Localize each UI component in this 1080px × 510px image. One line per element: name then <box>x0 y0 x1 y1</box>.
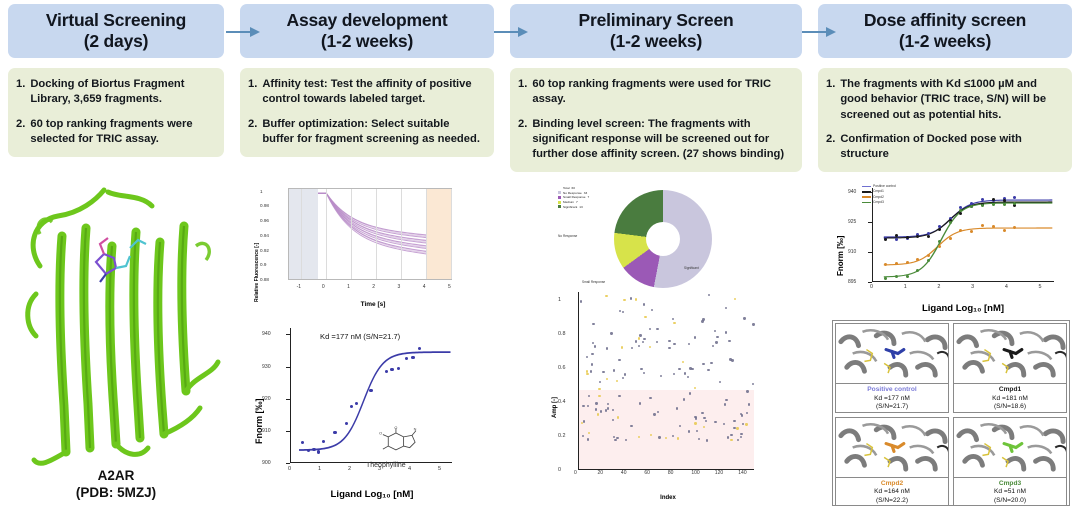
scatter-point <box>695 417 697 419</box>
scatter-point <box>714 330 716 332</box>
scatter-x-tick: 40 <box>621 470 627 476</box>
scatter-point <box>708 294 710 296</box>
scatter-point <box>639 334 641 336</box>
docked-pose-caption: Cmpd3 Kd =51 nM (S/N=20.0) <box>954 478 1066 506</box>
scatter-point <box>733 427 735 429</box>
legend-swatch <box>558 201 561 204</box>
compound-kd: Kd =181 nM <box>954 395 1066 404</box>
flow-arrow-1 <box>226 27 260 37</box>
compound-kd: Kd =164 nM <box>836 488 948 497</box>
affinity-data-point <box>906 236 909 239</box>
list-number: 2. <box>248 117 257 147</box>
dose-y-tick: 900 <box>262 460 271 466</box>
affinity-x-tick: 5 <box>1039 284 1042 290</box>
compound-kd: Kd =51 nM <box>954 488 1066 497</box>
stage-duration: (2 days) <box>12 31 220 52</box>
scatter-point <box>743 317 745 319</box>
hot-region <box>427 189 451 279</box>
data-point <box>411 356 414 359</box>
tric-x-axis-label: Time [s] <box>268 301 478 308</box>
scatter-point <box>602 371 604 373</box>
stage-description-virtual-screening: 1. Docking of Biortus Fragment Library, … <box>8 68 224 156</box>
docked-pose-gallery: Positive control Kd =177 nM (S/N=21.7) <box>832 320 1070 506</box>
scatter-point <box>630 425 632 427</box>
legend-line-swatch <box>862 202 871 204</box>
positive-control-dose-response-chart: Kd =177 nM (S/N=21.7) 900 910 920 930 94… <box>248 318 460 503</box>
affinity-data-point <box>938 240 941 243</box>
flow-arrow-3 <box>802 27 836 37</box>
scatter-point <box>610 332 612 334</box>
scatter-point <box>672 318 674 320</box>
scatter-point <box>643 303 645 305</box>
stage-description-assay-development: 1. Affinity test: Test the affinity of p… <box>240 68 494 156</box>
tric-x-tick: 3 <box>398 284 401 290</box>
scatter-point <box>617 416 619 418</box>
scatter-point <box>694 387 696 389</box>
scatter-point <box>606 347 608 349</box>
affinity-data-point <box>895 238 898 241</box>
legend-line-swatch <box>862 196 871 198</box>
scatter-point <box>649 397 651 399</box>
protein-name: A2AR <box>0 467 232 485</box>
affinity-y-tick: 895 <box>848 279 856 285</box>
scatter-y-tick: 0.4 <box>558 399 566 405</box>
docked-pose-cell: Positive control Kd =177 nM (S/N=21.7) <box>835 323 949 413</box>
scatter-x-tick: 60 <box>644 470 650 476</box>
affinity-x-tick: 4 <box>1005 284 1008 290</box>
affinity-plot-frame <box>872 188 1054 282</box>
scatter-point <box>734 298 736 300</box>
scatter-point <box>673 343 675 345</box>
stage-description-dose-affinity-screen: 1. The fragments with Kd ≤1000 µM and go… <box>818 68 1072 172</box>
scatter-point <box>740 433 742 435</box>
scatter-x-tick: 20 <box>597 470 603 476</box>
list-item: 1. 60 top ranking fragments were used fo… <box>518 77 792 107</box>
data-point <box>307 449 310 452</box>
kd-annotation: Kd =177 nM (S/N=21.7) <box>320 332 400 341</box>
data-point <box>317 450 320 453</box>
affinity-curves <box>872 188 1054 282</box>
dose-x-tick: 2 <box>348 466 351 472</box>
scatter-point <box>660 375 662 377</box>
affinity-x-tick: 0 <box>870 284 873 290</box>
affinity-data-point <box>906 275 909 278</box>
list-item: 2. Binding level screen: The fragments w… <box>518 117 792 162</box>
stage-column-virtual-screening: Virtual Screening (2 days) 1. Docking of… <box>0 0 232 510</box>
legend-value: 7 <box>588 195 590 200</box>
scatter-point <box>614 439 616 441</box>
scatter-point <box>716 336 718 338</box>
scatter-point <box>592 323 594 325</box>
scatter-point <box>638 337 640 339</box>
scatter-point <box>691 368 693 370</box>
scatter-point <box>688 430 690 432</box>
dose-x-tick: 5 <box>438 466 441 472</box>
scatter-point <box>684 372 686 374</box>
compound-name: Cmpd2 <box>836 480 948 489</box>
tric-y-tick: 0.9 <box>260 262 266 267</box>
scatter-point <box>616 380 618 382</box>
scatter-point <box>623 299 625 301</box>
tric-y-tick: 0.92 <box>260 248 269 253</box>
scatter-x-tick: 100 <box>691 470 699 476</box>
list-text: Binding level screen: The fragments with… <box>532 117 792 162</box>
scatter-point <box>730 439 732 441</box>
list-text: Buffer optimization: Select suitable buf… <box>262 117 484 147</box>
scatter-point <box>586 373 588 375</box>
scatter-point <box>658 436 660 438</box>
scatter-point <box>727 436 729 438</box>
scatter-point <box>702 363 704 365</box>
scatter-point <box>665 437 667 439</box>
scatter-point <box>599 381 601 383</box>
list-item: 1. The fragments with Kd ≤1000 µM and go… <box>826 77 1062 122</box>
dose-y-axis-label: Fnorm [‰] <box>254 399 264 445</box>
compound-sn: (S/N=22.2) <box>836 497 948 506</box>
scatter-point <box>635 298 637 300</box>
scatter-point <box>710 362 712 364</box>
stage-header-dose-affinity-screen: Dose affinity screen (1-2 weeks) <box>818 4 1072 58</box>
affinity-x-tick: 1 <box>904 284 907 290</box>
scatter-point <box>706 439 708 441</box>
affinity-x-tick: 3 <box>971 284 974 290</box>
list-number: 1. <box>518 77 527 107</box>
tric-y-tick: 0.98 <box>260 203 269 208</box>
list-item: 2. Buffer optimization: Select suitable … <box>248 117 484 147</box>
tric-y-tick: 1 <box>260 189 263 194</box>
scatter-point <box>725 307 727 309</box>
affinity-data-point <box>884 277 887 280</box>
scatter-point <box>689 392 691 394</box>
scatter-point <box>643 338 645 340</box>
tric-x-tick: 2 <box>372 284 375 290</box>
docked-pose-image <box>954 418 1066 478</box>
list-number: 1. <box>248 77 257 107</box>
compound-kd: Kd =177 nM <box>836 395 948 404</box>
scatter-point <box>694 336 696 338</box>
docked-pose-cell: Cmpd2 Kd =164 nM (S/N=22.2) <box>835 417 949 507</box>
tric-trace-chart: 10.980.960.940.920.90.88 -1012345 Relati… <box>248 182 458 312</box>
list-number: 2. <box>16 117 25 147</box>
affinity-data-point <box>927 259 930 262</box>
affinity-data-point <box>927 254 930 257</box>
data-point <box>345 422 348 425</box>
scatter-point <box>622 311 624 313</box>
affinity-x-axis-label: Ligand Log₁₀ [nM] <box>848 303 1078 314</box>
scatter-x-tick: 120 <box>715 470 723 476</box>
scatter-point <box>649 328 651 330</box>
stage-title: Dose affinity screen <box>864 10 1026 30</box>
dose-x-axis-label: Ligand Log₁₀ [nM] <box>266 489 478 500</box>
scatter-point <box>730 434 732 436</box>
molecule-name-label: Theophylline <box>366 462 406 469</box>
protein-pdb-id: (PDB: 5MZJ) <box>0 484 232 502</box>
scatter-point <box>653 413 655 415</box>
scatter-y-tick: 0 <box>558 467 561 473</box>
scatter-point <box>621 346 623 348</box>
list-number: 1. <box>16 77 25 107</box>
scatter-point <box>719 381 721 383</box>
docked-pose-cell: Cmpd3 Kd =51 nM (S/N=20.0) <box>953 417 1067 507</box>
affinity-data-point <box>895 234 898 237</box>
tric-x-tick: 5 <box>448 284 451 290</box>
scatter-point <box>682 361 684 363</box>
scatter-plot-frame <box>578 292 754 470</box>
stage-duration: (1-2 weeks) <box>514 31 798 52</box>
docked-pose-caption: Positive control Kd =177 nM (S/N=21.7) <box>836 384 948 412</box>
affinity-data-point <box>1003 229 1006 232</box>
affinity-y-tick: 940 <box>848 189 856 195</box>
theophylline-structure-icon: OON <box>376 426 422 460</box>
compound-sn: (S/N=18.6) <box>954 403 1066 412</box>
docked-pose-image <box>836 418 948 478</box>
scatter-point <box>673 373 675 375</box>
scatter-point <box>597 413 599 415</box>
affinity-data-point <box>906 261 909 264</box>
scatter-point <box>635 340 637 342</box>
scatter-point <box>736 427 738 429</box>
scatter-point <box>618 359 620 361</box>
list-text: 60 top ranking fragments were used for T… <box>532 77 792 107</box>
scatter-point <box>598 395 600 397</box>
docked-pose-caption: Cmpd2 Kd =164 nM (S/N=22.2) <box>836 478 948 506</box>
stage-header-virtual-screening: Virtual Screening (2 days) <box>8 4 224 58</box>
cold-region <box>289 189 318 279</box>
legend-label: Cmpd3 <box>873 200 884 205</box>
svg-text:N: N <box>414 428 417 432</box>
scatter-point <box>638 345 640 347</box>
tric-plot-frame <box>288 188 452 280</box>
affinity-legend: Positive control Cmpd1 Cmpd2 Cmpd3 <box>862 184 896 205</box>
dose-affinity-chart: Positive control Cmpd1 Cmpd2 Cmpd3 895 9… <box>832 180 1062 316</box>
scatter-point <box>729 358 731 360</box>
scatter-point <box>642 341 644 343</box>
scatter-point <box>582 435 584 437</box>
affinity-data-point <box>981 204 984 207</box>
scatter-point <box>595 402 597 404</box>
tric-x-tick: 4 <box>423 284 426 290</box>
scatter-point <box>624 373 626 375</box>
scatter-point <box>618 395 620 397</box>
scatter-point <box>607 407 609 409</box>
docked-pose-image <box>954 324 1066 384</box>
scatter-point <box>725 399 727 401</box>
scatter-y-tick: 0.8 <box>558 331 566 337</box>
donut-callout-label: No Response <box>558 234 577 238</box>
legend-value: 13 <box>579 205 582 210</box>
scatter-point <box>606 378 608 380</box>
scatter-point <box>586 356 588 358</box>
scatter-point <box>590 370 592 372</box>
list-text: The fragments with Kd ≤1000 µM and good … <box>840 77 1062 122</box>
compound-sn: (S/N=21.7) <box>836 403 948 412</box>
list-item: 1. Affinity test: Test the affinity of p… <box>248 77 484 107</box>
scatter-point <box>694 422 696 424</box>
protein-caption: A2AR (PDB: 5MZJ) <box>0 467 232 502</box>
tric-y-tick: 0.88 <box>260 277 269 282</box>
scatter-point <box>752 383 754 385</box>
scatter-y-tick: 0.6 <box>558 365 566 371</box>
scatter-point <box>583 420 585 422</box>
donut-legend: Total 60 No Response 33 Small Response 7… <box>558 186 589 209</box>
data-point <box>405 357 408 360</box>
scatter-point <box>712 345 714 347</box>
svg-text:O: O <box>394 426 397 430</box>
list-text: Docking of Biortus Fragment Library, 3,6… <box>30 77 214 107</box>
legend-swatch <box>558 196 561 199</box>
scatter-point <box>592 342 594 344</box>
scatter-point <box>591 353 593 355</box>
scatter-point <box>752 323 754 325</box>
compound-name: Cmpd1 <box>954 386 1066 395</box>
tric-y-tick: 0.94 <box>260 233 269 238</box>
affinity-y-tick: 910 <box>848 249 856 255</box>
list-text: Affinity test: Test the affinity of posi… <box>262 77 484 107</box>
scatter-point <box>643 372 645 374</box>
stage-title: Virtual Screening <box>46 10 186 30</box>
dose-y-tick: 940 <box>262 331 271 337</box>
scatter-point <box>619 310 621 312</box>
legend-swatch <box>558 205 561 208</box>
scatter-point <box>605 295 607 297</box>
legend-swatch <box>558 187 561 190</box>
data-point <box>390 368 393 371</box>
docked-pose-image <box>836 324 948 384</box>
scatter-point <box>725 331 727 333</box>
tric-x-tick: 1 <box>347 284 350 290</box>
data-point <box>333 431 336 434</box>
list-item: 1. Docking of Biortus Fragment Library, … <box>16 77 214 107</box>
protein-structure-figure: A2AR (PDB: 5MZJ) <box>0 176 232 510</box>
binding-level-donut-chart: Total 60 No Response 33 Small Response 7… <box>552 184 742 296</box>
scatter-point <box>701 320 703 322</box>
scatter-point <box>587 438 589 440</box>
scatter-y-tick: 1 <box>558 297 561 303</box>
scatter-point <box>715 341 717 343</box>
affinity-data-point <box>992 225 995 228</box>
list-item: 2. Confirmation of Docked pose with stru… <box>826 132 1062 162</box>
legend-row: Significant 13 <box>558 205 589 210</box>
compound-name: Positive control <box>836 386 948 395</box>
scatter-point <box>696 430 698 432</box>
scatter-point <box>745 423 747 425</box>
data-point <box>301 441 304 444</box>
data-point <box>312 448 315 451</box>
scatter-point <box>613 369 615 371</box>
scatter-point <box>701 412 703 414</box>
list-text: 60 top ranking fragments were selected f… <box>30 117 214 147</box>
affinity-y-tick: 925 <box>848 219 856 225</box>
tric-x-tick: 0 <box>322 284 325 290</box>
stage-duration: (1-2 weeks) <box>244 31 490 52</box>
compound-name: Cmpd3 <box>954 480 1066 489</box>
stage-description-preliminary-screen: 1. 60 top ranking fragments were used fo… <box>510 68 802 172</box>
dose-curve <box>290 328 452 463</box>
affinity-x-tick: 2 <box>937 284 940 290</box>
donut-ring <box>614 190 712 288</box>
threshold-region <box>578 390 754 470</box>
scatter-point <box>673 322 675 324</box>
scatter-point <box>714 421 716 423</box>
legend-label: Significant <box>563 205 577 210</box>
compound-sn: (S/N=20.0) <box>954 497 1066 506</box>
scatter-point <box>703 417 705 419</box>
docked-pose-cell: Cmpd1 Kd =181 nM (S/N=18.6) <box>953 323 1067 413</box>
scatter-point <box>741 414 743 416</box>
scatter-point <box>651 309 653 311</box>
tric-y-tick: 0.96 <box>260 218 269 223</box>
affinity-data-point <box>895 275 898 278</box>
scatter-point <box>707 369 709 371</box>
scatter-point <box>676 407 678 409</box>
scatter-point <box>640 368 642 370</box>
scatter-point <box>631 347 633 349</box>
affinity-data-point <box>895 262 898 265</box>
dose-plot-frame <box>290 328 452 463</box>
scatter-point <box>746 390 748 392</box>
scatter-point <box>728 340 730 342</box>
dose-x-tick: 1 <box>318 466 321 472</box>
scatter-point <box>656 341 658 343</box>
scatter-point <box>591 363 593 365</box>
legend-swatch <box>558 191 561 194</box>
data-point <box>355 402 358 405</box>
data-point <box>369 389 372 392</box>
scatter-point <box>688 343 690 345</box>
affinity-y-axis-label: Fnorm [‰] <box>836 236 845 276</box>
scatter-point <box>679 425 681 427</box>
tric-y-axis-label: Relative Fluorescence [-] <box>254 243 260 302</box>
scatter-x-axis-label: Index <box>562 495 774 501</box>
scatter-point <box>649 346 651 348</box>
dose-y-tick: 930 <box>262 364 271 370</box>
donut-callout-label: Significant <box>684 266 699 270</box>
svg-text:O: O <box>379 432 382 436</box>
scatter-x-tick: 80 <box>668 470 674 476</box>
donut-callout-label: Small Response <box>582 280 605 284</box>
scatter-point <box>580 300 582 302</box>
dose-x-tick: 4 <box>408 466 411 472</box>
scatter-x-tick: 0 <box>574 470 577 476</box>
flow-arrow-2 <box>494 27 528 37</box>
list-number: 2. <box>826 132 835 162</box>
list-item: 2. 60 top ranking fragments were selecte… <box>16 117 214 147</box>
docked-pose-caption: Cmpd1 Kd =181 nM (S/N=18.6) <box>954 384 1066 412</box>
scatter-y-tick: 0.2 <box>558 433 566 439</box>
scatter-point <box>668 347 670 349</box>
stage-header-preliminary-screen: Preliminary Screen (1-2 weeks) <box>510 4 802 58</box>
scatter-point <box>595 408 597 410</box>
legend-row: Cmpd3 <box>862 200 896 205</box>
list-number: 1. <box>826 77 835 122</box>
scatter-point <box>644 316 646 318</box>
scatter-point <box>612 419 614 421</box>
scatter-point <box>594 345 596 347</box>
a2ar-ribbon-svg <box>0 176 232 476</box>
donut-hole <box>646 222 680 256</box>
scatter-point <box>723 423 725 425</box>
binding-amplitude-scatter-chart: 00.20.40.60.81 020406080100120140 Amp [-… <box>548 288 760 504</box>
stage-title: Assay development <box>287 10 448 30</box>
tric-x-tick: -1 <box>297 284 301 290</box>
affinity-data-point <box>992 203 995 206</box>
scatter-point <box>687 376 689 378</box>
stage-duration: (1-2 weeks) <box>822 31 1068 52</box>
scatter-point <box>656 328 658 330</box>
affinity-data-point <box>949 221 952 224</box>
legend-line-swatch <box>862 186 871 188</box>
list-text: Confirmation of Docked pose with structu… <box>840 132 1062 162</box>
